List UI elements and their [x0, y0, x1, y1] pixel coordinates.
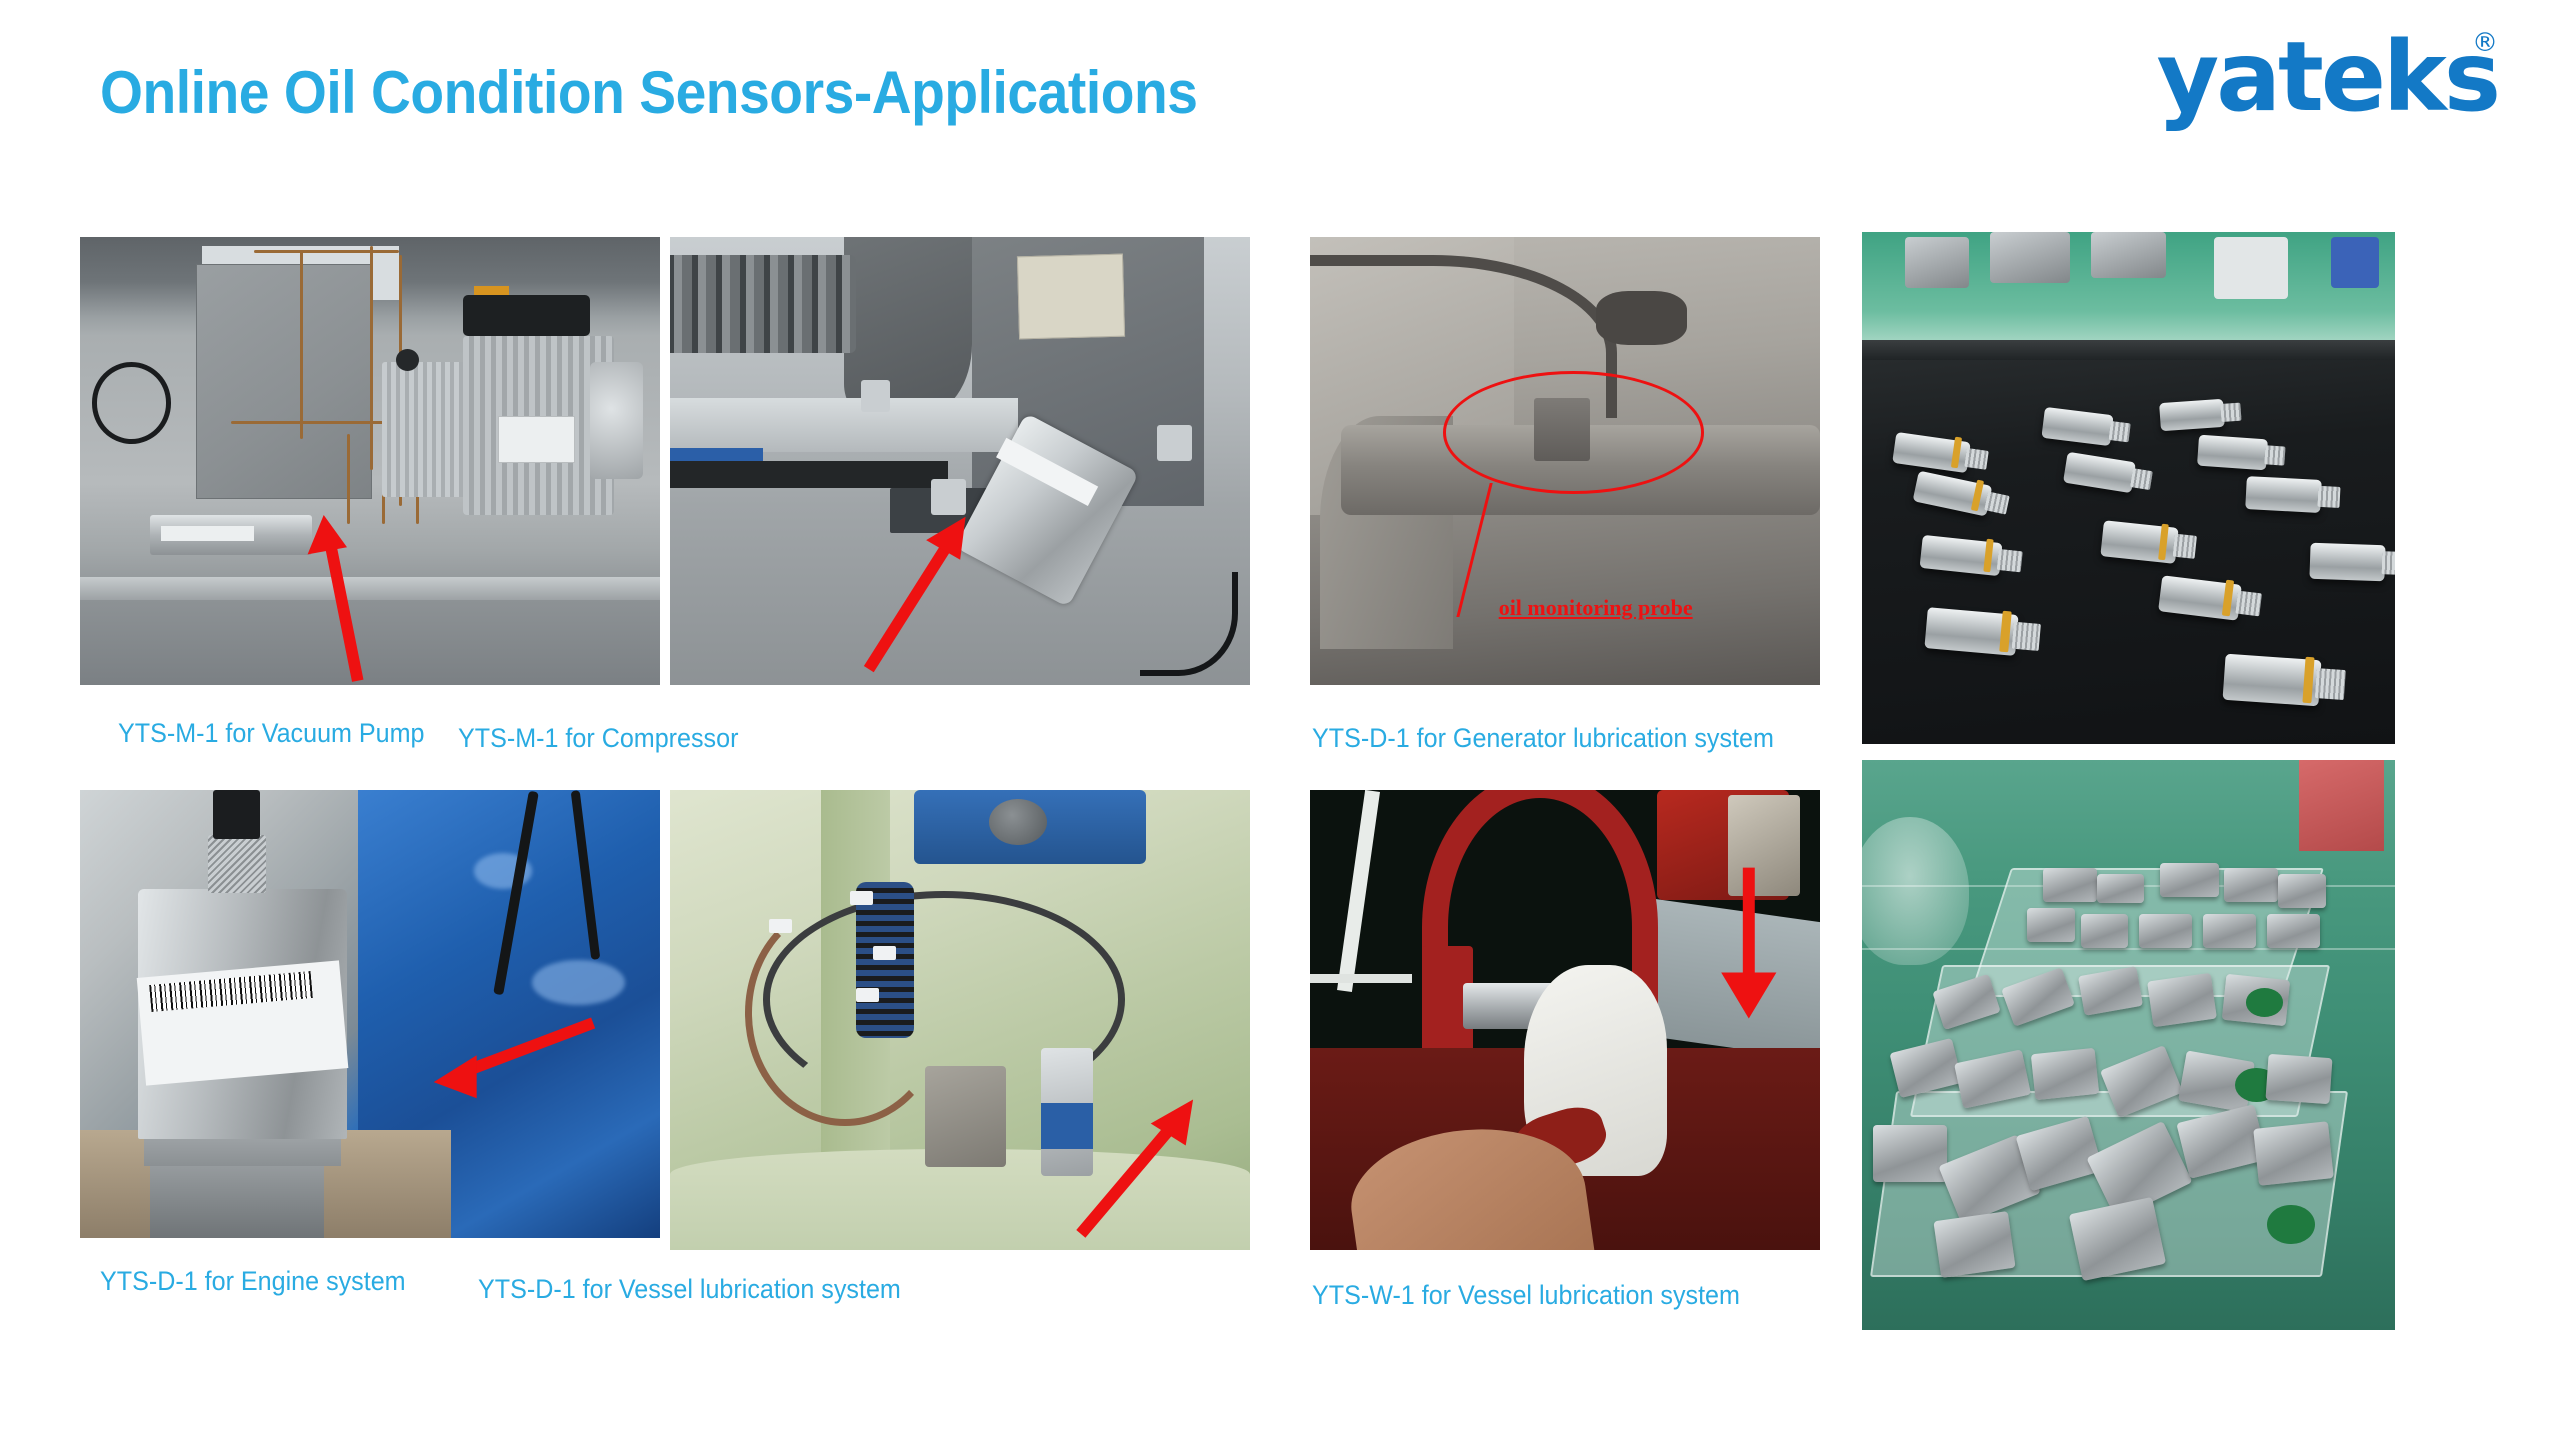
cable-connector [213, 790, 259, 839]
vacuum-pump-body [382, 362, 475, 496]
sensor-tray-scene [1862, 232, 2395, 744]
sensor-mount-base [150, 1157, 324, 1238]
flange-face [1728, 795, 1799, 896]
bench-rail [80, 577, 660, 599]
sensor-housing [2267, 914, 2320, 948]
blue-fixture [2331, 237, 2379, 288]
red-ellipse-highlight-icon [1443, 371, 1704, 493]
gear-housing-part [1990, 232, 2070, 283]
sensor-housing [1933, 1211, 2015, 1278]
photo-generator[interactable]: oil monitoring probe [1310, 237, 1820, 685]
vacuum-pump-scene [80, 237, 660, 685]
sensor-housing [2081, 914, 2129, 948]
copper-tube [231, 421, 393, 424]
hex-bolt [1157, 425, 1192, 461]
connector-knurled-nut [208, 835, 266, 893]
deck-rail [1310, 974, 1412, 983]
sensor-housing [1873, 1125, 1948, 1182]
motor-handle [463, 295, 591, 335]
hex-bolt [861, 380, 890, 411]
coiled-wiring [856, 882, 914, 1038]
cable-tie [856, 988, 879, 1002]
sensor-housing [2030, 1047, 2098, 1099]
oil-sensor-transmitter [925, 1066, 1006, 1167]
white-fixture [2214, 237, 2289, 298]
page-title: Online Oil Condition Sensors-Application… [100, 58, 1197, 127]
blue-paint-stripe [670, 448, 763, 461]
sensor-housing [2266, 1054, 2333, 1104]
clear-plastic-cone [1862, 817, 1969, 965]
sensor-cable [1140, 572, 1239, 677]
sensor-housing [2224, 868, 2277, 902]
hex-bolt [931, 479, 966, 515]
sensor-housing [2043, 868, 2096, 902]
registered-trademark-icon: ® [2472, 28, 2498, 58]
sensor-housing [2203, 914, 2256, 948]
photo-engine[interactable] [80, 790, 660, 1238]
gear-housing-part [2091, 232, 2166, 278]
pipe-clamp-bracket [1596, 291, 1688, 345]
blue-highlight [532, 960, 625, 1005]
compressor-scene [670, 237, 1250, 685]
gear-housing-part [1905, 237, 1969, 288]
caption-compressor: YTS-M-1 for Compressor [458, 723, 738, 754]
caption-vessel-w: YTS-W-1 for Vessel lubrication system [1312, 1280, 1740, 1311]
cable-tie [873, 946, 896, 960]
cable-tie [850, 891, 873, 905]
cable-tie [769, 919, 792, 933]
photo-vessel-lubrication-d[interactable] [670, 790, 1250, 1250]
caption-generator: YTS-D-1 for Generator lubrication system [1312, 723, 1774, 754]
motor-end-cap [590, 362, 642, 478]
annotation-oil-monitoring-probe: oil monitoring probe [1499, 595, 1693, 621]
tray-rim [1862, 340, 2395, 360]
red-storage-rack [2299, 760, 2384, 851]
caption-engine: YTS-D-1 for Engine system [100, 1266, 406, 1297]
copper-tube [300, 250, 303, 438]
brand-logo: yateks ® [2098, 22, 2498, 132]
valve-cap [989, 799, 1047, 845]
gearbox-nameplate [1017, 254, 1126, 339]
caption-vessel-d: YTS-D-1 for Vessel lubrication system [478, 1274, 901, 1305]
sensor-pcb [2267, 1205, 2315, 1245]
power-cable [92, 362, 172, 444]
grey-deck-plate [1647, 897, 1820, 1059]
oil-sensor-unit [2197, 434, 2268, 469]
brand-logo-wordmark: yateks [2098, 22, 2498, 132]
sensor-pcb [2246, 988, 2283, 1017]
photo-compressor[interactable] [670, 237, 1250, 685]
generator-scene: oil monitoring probe [1310, 237, 1820, 685]
oil-sensor-label [161, 526, 254, 541]
photo-vessel-lubrication-w[interactable] [1310, 790, 1820, 1250]
caption-vacuum-pump: YTS-M-1 for Vacuum Pump [118, 718, 425, 749]
photo-vacuum-pump[interactable] [80, 237, 660, 685]
copper-tube [370, 246, 373, 470]
machine-base-plate [670, 398, 1018, 452]
oil-sensor-blue-band [1041, 1103, 1093, 1149]
cabinet-backplate [196, 264, 372, 499]
engine-scene [80, 790, 660, 1238]
base-channel [670, 461, 948, 488]
sensor-housing [2254, 1121, 2334, 1185]
copper-tube [347, 434, 350, 524]
component-tray-scene [1862, 760, 2395, 1330]
sensor-housing [2160, 863, 2219, 897]
oil-sensor-unit [2309, 543, 2385, 581]
sensor-housing [2278, 874, 2326, 908]
vessel-red-pipe-scene [1310, 790, 1820, 1250]
drive-shaft [670, 255, 856, 354]
oil-sensor-unit [2245, 476, 2321, 513]
sensor-housing [2097, 874, 2145, 903]
vacuum-pump-nameplate [498, 416, 575, 463]
copper-tube [254, 250, 399, 253]
sensor-housing [2147, 972, 2217, 1026]
sensor-housing [2027, 908, 2075, 942]
photo-sensor-tray-clear[interactable] [1862, 760, 2395, 1330]
vessel-machinery-scene [670, 790, 1250, 1250]
oil-sensor-unit [2160, 399, 2226, 432]
sensor-housing [2139, 914, 2192, 948]
photo-sensor-tray-black[interactable] [1862, 232, 2395, 744]
